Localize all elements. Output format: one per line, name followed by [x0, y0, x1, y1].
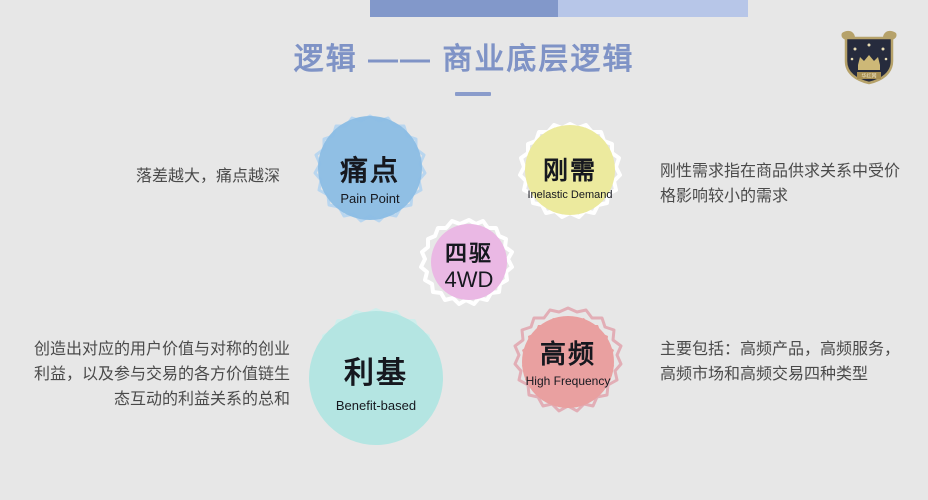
- note-benefit-based: 创造出对应的用户价值与对称的创业利益，以及参与交易的各方价值链生态互动的利益关系…: [26, 338, 290, 412]
- gear-inelastic-demand[interactable]: 刚需 Inelastic Demand: [506, 120, 634, 248]
- shield-crest-logo: 华红网: [838, 27, 900, 85]
- page-title: 逻辑 —— 商业底层逻辑: [0, 34, 928, 78]
- gear-benefit-based[interactable]: 利基 Benefit-based: [292, 306, 460, 474]
- slide-canvas: 逻辑 —— 商业底层逻辑 华红网 痛点 Pain Point: [0, 0, 928, 500]
- gear-high-frequency[interactable]: 高频 High Frequency: [498, 304, 638, 444]
- note-pain-point: 落差越大，痛点越深: [108, 165, 308, 190]
- note-high-frequency: 主要包括：高频产品，高频服务，高频市场和高频交易四种类型: [660, 338, 912, 388]
- top-accent-bar-light: [558, 0, 748, 17]
- top-accent-bar-dark: [370, 0, 558, 17]
- svg-text:华红网: 华红网: [861, 73, 876, 80]
- title-underline-dash: [455, 92, 491, 96]
- note-inelastic-demand: 刚性需求指在商品供求关系中受价格影响较小的需求: [660, 160, 910, 210]
